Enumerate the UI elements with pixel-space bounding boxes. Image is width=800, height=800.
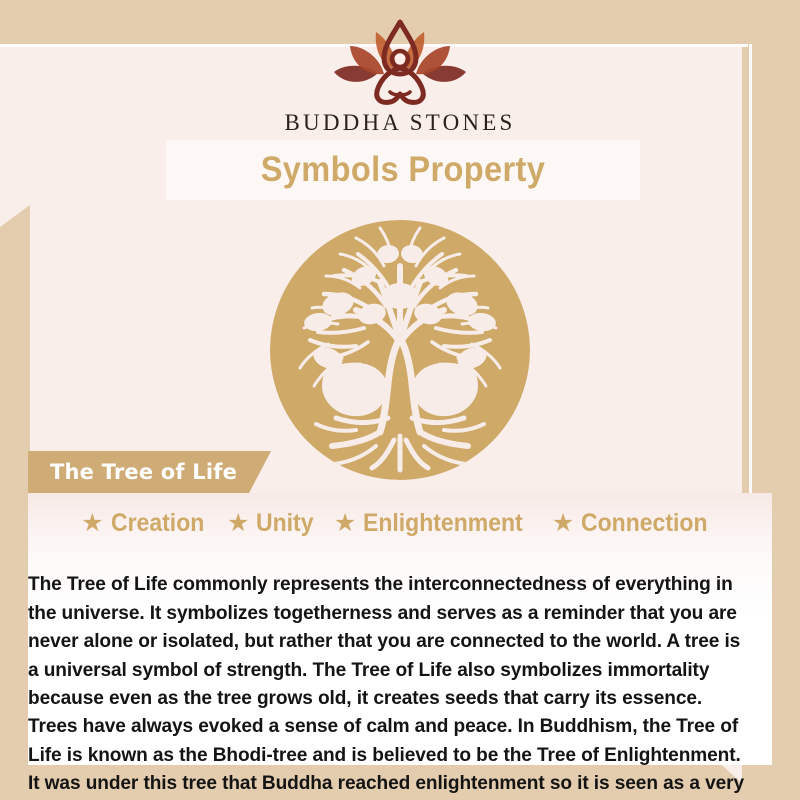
content-panel: ★ Creation ★ Unity ★ Enlightenment ★ Con… <box>28 493 772 765</box>
keyword-label: Unity <box>256 509 314 538</box>
star-icon: ★ <box>227 511 249 536</box>
keyword-item: ★ Unity <box>227 509 319 538</box>
symbol-label: The Tree of Life <box>50 460 237 484</box>
keyword-label: Enlightenment <box>363 509 523 538</box>
keyword-label: Creation <box>111 509 204 538</box>
star-icon: ★ <box>81 511 103 536</box>
keyword-label: Connection <box>581 509 708 538</box>
symbol-description: The Tree of Life commonly represents the… <box>28 570 761 800</box>
tree-of-life-icon <box>268 218 532 482</box>
star-icon: ★ <box>552 511 574 536</box>
poster-canvas: BUDDHA STONES Symbols Property <box>0 0 800 800</box>
keyword-item: ★ Creation <box>81 509 212 538</box>
brand-name: BUDDHA STONES <box>0 110 800 136</box>
brand-logo: BUDDHA STONES <box>0 16 800 136</box>
title-banner: Symbols Property <box>166 140 640 200</box>
star-icon: ★ <box>334 511 356 536</box>
keyword-item: ★ Connection <box>552 509 719 538</box>
lotus-meditation-icon <box>320 16 480 108</box>
keyword-item: ★ Enlightenment <box>334 509 537 538</box>
frame-band-left <box>0 205 30 800</box>
page-title: Symbols Property <box>261 150 546 190</box>
keyword-list: ★ Creation ★ Unity ★ Enlightenment ★ Con… <box>28 509 772 538</box>
symbol-label-ribbon: The Tree of Life <box>28 451 271 493</box>
